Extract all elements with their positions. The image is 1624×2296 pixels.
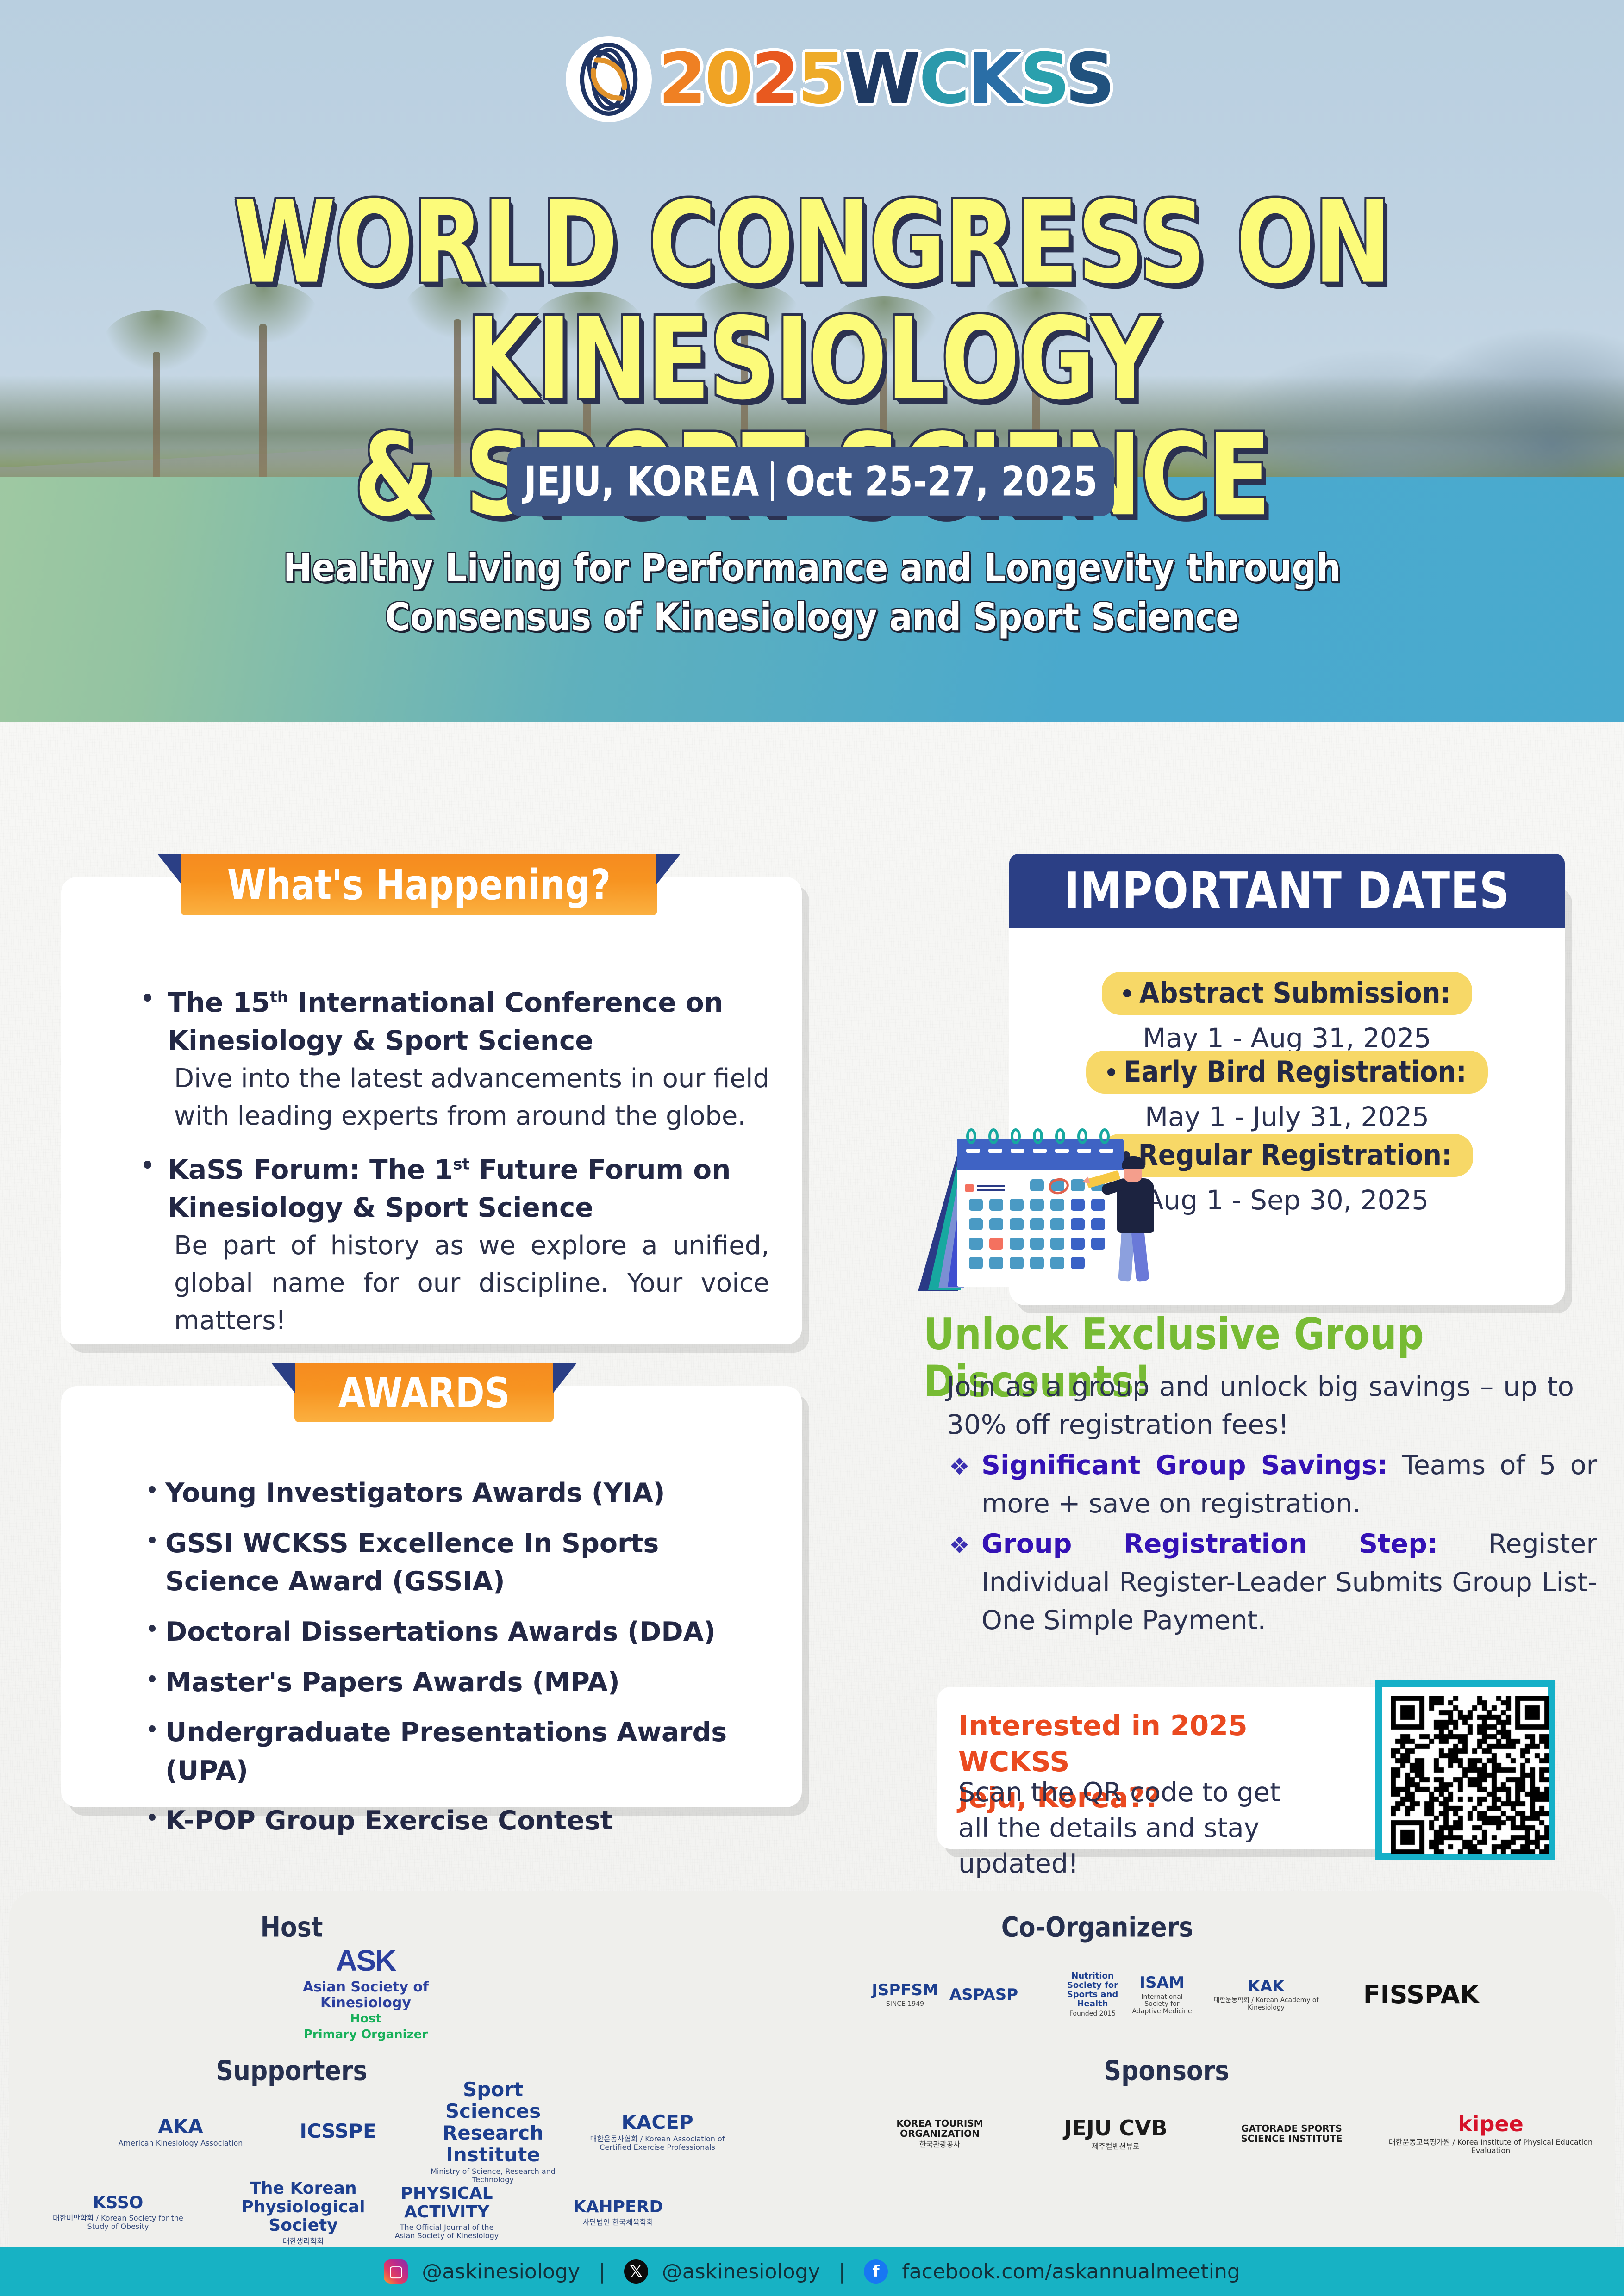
calendar-day-cell — [1091, 1199, 1105, 1211]
sponsor-logo-4: kipee대한운동교육평가원 / Korea Institute of Phys… — [1375, 2094, 1606, 2173]
group-discount-bullet: ❖Significant Group Savings: Teams of 5 o… — [981, 1446, 1597, 1523]
whats-happening-card: The 15th International Conference on Kin… — [61, 877, 802, 1344]
qr-subtext: Scan the QR code to get all the details … — [958, 1775, 1380, 1882]
host-heading: Host — [194, 1914, 389, 1941]
ask-logo-role-2: Primary Organizer — [304, 2028, 428, 2041]
diamond-bullet-icon: ❖ — [949, 1450, 970, 1484]
important-date-value: May 1 - Aug 31, 2025 — [1009, 1022, 1565, 1054]
calendar-header-dash — [966, 1149, 980, 1153]
award-item: Undergraduate Presentations Awards (UPA) — [165, 1713, 781, 1790]
awards-ribbon: AWARDS — [294, 1363, 554, 1422]
important-date-label: Regular Registration: — [1138, 1139, 1452, 1172]
facebook-icon[interactable]: f — [864, 2259, 888, 2284]
wckss-emblem-icon — [566, 36, 652, 122]
supporter-logo-name: ICSSPE — [300, 2120, 376, 2142]
bullet-icon — [149, 1625, 156, 1632]
supporter-logo-sub: 대한생리학회 — [283, 2237, 324, 2246]
calendar-day-cell — [1010, 1199, 1024, 1211]
important-date-label: Abstract Submission: — [1139, 977, 1451, 1010]
logo-char: K — [968, 39, 1020, 119]
calendar-ring — [1055, 1128, 1065, 1144]
bullet-icon — [149, 1725, 156, 1732]
bullet-icon — [144, 1161, 151, 1169]
calendar-day-cell — [1030, 1218, 1044, 1230]
calendar-day-cell — [969, 1257, 983, 1269]
tagline: Healthy Living for Performance and Longe… — [0, 544, 1624, 642]
title-line-1: WORLD CONGRESS ON KINESIOLOGY — [234, 177, 1391, 425]
whats-happening-item: KaSS Forum: The 1st Future Forum on Kine… — [168, 1151, 769, 1339]
qr-subtext-line-1: Scan the QR code to get — [958, 1775, 1380, 1811]
sponsor-logo-1: KOREA TOURISM ORGANIZATION한국관광공사 — [880, 2094, 1000, 2173]
co-organizer-logo-2: ASPASP — [931, 1960, 1037, 2029]
logo-char: S — [1020, 39, 1065, 119]
calendar-day-cell — [989, 1199, 1003, 1211]
calendar-day-cell — [969, 1199, 983, 1211]
calendar-day-cell — [1030, 1257, 1044, 1269]
ask-logo-mark: ASK — [336, 1943, 395, 1978]
calendar-ring — [988, 1128, 999, 1144]
calendar-day-cell — [1071, 1257, 1085, 1269]
supporter-logo-3: Sport Sciences Research InstituteMinistr… — [417, 2094, 569, 2168]
bullet-icon — [1107, 1068, 1115, 1076]
group-discounts-intro: Join as a group and unlock big savings –… — [947, 1368, 1574, 1444]
group-discount-bullet-title: Group Registration Step: — [981, 1529, 1438, 1559]
supporter-logo-2: ICSSPE — [269, 2094, 407, 2168]
whats-happening-body: Be part of history as we explore a unifi… — [168, 1227, 769, 1340]
ask-logo-role-1: Host — [350, 2012, 381, 2026]
co-organizer-logo-4: ISAMInternational Society for Adaptive M… — [1130, 1960, 1194, 2029]
calendar-day-cell — [1091, 1238, 1105, 1250]
calendar-header-dash — [988, 1149, 1002, 1153]
facebook-url[interactable]: facebook.com/askannualmeeting — [902, 2260, 1240, 2284]
supporter-logo-6: The Korean Physiological Society대한생리학회 — [227, 2178, 380, 2247]
sponsor-logo-2: JEJU CVB제주컬벤션뷰로 — [1018, 2094, 1213, 2173]
award-item: GSSI WCKSS Excellence In Sports Science … — [165, 1524, 781, 1601]
logo-char: 5 — [798, 39, 844, 119]
co-organizer-logo-sub: Founded 2015 — [1069, 2010, 1116, 2018]
important-date-label-chip: Abstract Submission: — [1102, 972, 1472, 1015]
supporter-logo-1: AKAAmerican Kinesiology Association — [111, 2094, 250, 2168]
sponsor-logo-name: KOREA TOURISM ORGANIZATION — [880, 2118, 1000, 2139]
calendar-illustration-icon — [914, 1125, 1174, 1300]
qr-subtext-line-2: all the details and stay updated! — [958, 1811, 1380, 1882]
bullet-icon — [149, 1814, 156, 1821]
qr-headline-line-1: Interested in 2025 WCKSS — [958, 1708, 1366, 1780]
sponsor-logo-name: kipee — [1458, 2112, 1524, 2136]
co-organizer-logo-5: KAK대한운동학회 / Korean Academy of Kinesiolog… — [1213, 1960, 1319, 2029]
logo-char: 2 — [751, 39, 798, 119]
x-handle[interactable]: @askinesiology — [662, 2260, 820, 2284]
supporters-heading: Supporters — [194, 2057, 389, 2085]
qr-code[interactable] — [1375, 1680, 1555, 1860]
bullet-icon — [149, 1537, 156, 1543]
calendar-day-cell — [1010, 1257, 1024, 1269]
calendar-day-cell — [1030, 1179, 1044, 1191]
logo-char: S — [1065, 39, 1113, 119]
location-date-badge: JEJU, KOREA Oct 25-27, 2025 — [507, 447, 1114, 516]
award-item: Master's Papers Awards (MPA) — [165, 1663, 781, 1702]
important-dates-label: IMPORTANT DATES — [1064, 862, 1510, 920]
calendar-ring — [1077, 1128, 1087, 1144]
sponsor-logo-sub: 한국관광공사 — [919, 2140, 960, 2149]
supporter-logo-name: KAHPERD — [573, 2198, 663, 2216]
supporter-logo-name: The Korean Physiological Society — [227, 2179, 380, 2235]
calendar-day-cell — [1030, 1199, 1044, 1211]
award-item: K-POP Group Exercise Contest — [165, 1802, 781, 1840]
pill-divider — [771, 461, 774, 501]
calendar-day-cell — [1030, 1238, 1044, 1250]
calendar-day-cell — [969, 1238, 983, 1250]
award-item: Young Investigators Awards (YIA) — [165, 1474, 781, 1512]
tagline-line-2: Consensus of Kinesiology and Sport Scien… — [0, 593, 1624, 642]
calendar-day-cell — [1091, 1218, 1105, 1230]
award-item: Doctoral Dissertations Awards (DDA) — [165, 1613, 781, 1651]
instagram-icon[interactable]: ▢ — [384, 2259, 408, 2284]
conference-poster: 2025WCKSS WORLD CONGRESS ON KINESIOLOGY … — [0, 0, 1624, 2296]
sponsor-logo-sub: 제주컬벤션뷰로 — [1092, 2142, 1139, 2151]
supporter-logo-name: Sport Sciences Research Institute — [417, 2078, 569, 2165]
co-organizer-logo-name: Nutrition Society for Sports and Health — [1065, 1972, 1120, 2009]
co-organizer-logo-name: JSPFSM — [872, 1981, 938, 1999]
calendar-day-cell — [1010, 1218, 1024, 1230]
social-bar: ▢ @askinesiology | 𝕏 @askinesiology | f … — [0, 2247, 1624, 2296]
supporter-logo-sub: American Kinesiology Association — [119, 2139, 243, 2147]
co-organizer-logo-name: KAK — [1248, 1978, 1284, 1995]
important-date-entry: Abstract Submission:May 1 - Aug 31, 2025 — [1009, 972, 1565, 1054]
supporter-logo-name: KACEP — [621, 2111, 693, 2133]
logo-wordmark: 2025WCKSS — [658, 44, 1113, 114]
sponsor-logo-3: GATORADE SPORTS SCIENCE INSTITUTE — [1231, 2094, 1352, 2173]
calendar-header-dash — [1011, 1149, 1024, 1153]
co-organizer-logo-3: Nutrition Society for Sports and HealthF… — [1065, 1960, 1120, 2029]
calendar-day-cell — [1010, 1238, 1024, 1250]
x-icon[interactable]: 𝕏 — [624, 2259, 648, 2284]
group-discount-bullet: ❖Group Registration Step: Register Indiv… — [981, 1525, 1597, 1640]
calendar-day-cell — [1050, 1238, 1064, 1250]
co-organizer-logo-sub: SINCE 1949 — [886, 2001, 924, 2008]
supporter-logo-sub: The Official Journal of the Asian Societ… — [394, 2223, 500, 2240]
logo-char: C — [919, 39, 968, 119]
calendar-day-cell — [989, 1238, 1003, 1250]
wckss-logo: 2025WCKSS — [566, 36, 1113, 122]
awards-card: Young Investigators Awards (YIA)GSSI WCK… — [61, 1386, 802, 1807]
group-discount-bullet-title: Significant Group Savings: — [981, 1450, 1388, 1481]
supporter-logo-name: KSSO — [93, 2194, 144, 2212]
awards-list: Young Investigators Awards (YIA)GSSI WCK… — [165, 1474, 781, 1852]
calendar-day-cell — [1050, 1257, 1064, 1269]
important-date-label-chip: Early Bird Registration: — [1086, 1051, 1488, 1094]
co-organizer-logo-1: JSPFSMSINCE 1949 — [880, 1960, 931, 2029]
bullet-icon — [144, 994, 151, 1002]
calendar-header-dash — [1055, 1149, 1069, 1153]
calendar-day-cell — [1071, 1218, 1085, 1230]
social-divider-1: | — [599, 2260, 606, 2284]
calendar-day-cell — [989, 1218, 1003, 1230]
calendar-header-dash — [1099, 1149, 1113, 1153]
tagline-line-1: Healthy Living for Performance and Longe… — [0, 544, 1624, 593]
whats-happening-item: The 15th International Conference on Kin… — [168, 983, 769, 1135]
important-date-label: Early Bird Registration: — [1124, 1055, 1467, 1089]
calendar-ring — [1099, 1128, 1110, 1144]
whats-happening-label: What's Happening? — [227, 860, 611, 908]
calendar-day-cell — [1050, 1199, 1064, 1211]
co-organizer-logo-6: FISSPAK — [1333, 1960, 1509, 2029]
date-text: Oct 25-27, 2025 — [786, 457, 1097, 505]
co-organizers-heading: Co-Organizers — [866, 1914, 1329, 1941]
supporter-logo-7: PHYSICAL ACTIVITYThe Official Journal of… — [394, 2178, 500, 2247]
important-date-entry: Early Bird Registration:May 1 - July 31,… — [1009, 1051, 1565, 1132]
calendar-header-dash — [1033, 1149, 1047, 1153]
supporter-logo-name: PHYSICAL ACTIVITY — [394, 2184, 500, 2222]
sponsor-logo-name: GATORADE SPORTS SCIENCE INSTITUTE — [1231, 2123, 1352, 2144]
whats-happening-heading: KaSS Forum: The 1st Future Forum on Kine… — [168, 1151, 769, 1227]
calendar-day-cell — [1071, 1179, 1085, 1191]
calendar-day-cell — [1071, 1199, 1085, 1211]
sponsor-logo-sub: 대한운동교육평가원 / Korea Institute of Physical … — [1375, 2138, 1606, 2155]
instagram-handle[interactable]: @askinesiology — [422, 2260, 580, 2284]
host-logo-ask: ASKAsian Society of KinesiologyHostPrima… — [269, 1951, 463, 2034]
supporter-logo-sub: 대한비만학회 / Korean Society for the Study of… — [42, 2214, 194, 2231]
important-dates-header: IMPORTANT DATES — [1009, 854, 1565, 928]
co-organizer-logo-name: FISSPAK — [1363, 1981, 1480, 2009]
whats-happening-heading: The 15th International Conference on Kin… — [168, 983, 769, 1060]
ask-logo-name: Asian Society of Kinesiology — [269, 1979, 463, 2010]
co-organizer-logo-sub: International Society for Adaptive Medic… — [1130, 1994, 1194, 2016]
supporter-logo-sub: 대한운동사협회 / Korean Association of Certifie… — [588, 2135, 727, 2152]
calendar-day-cell — [1071, 1238, 1085, 1250]
calendar-day-cell — [969, 1218, 983, 1230]
supporter-logo-name: AKA — [158, 2116, 203, 2137]
hero-banner: 2025WCKSS WORLD CONGRESS ON KINESIOLOGY … — [0, 0, 1624, 722]
supporter-logo-4: KACEP대한운동사협회 / Korean Association of Cer… — [588, 2094, 727, 2168]
sponsors-heading: Sponsors — [1028, 2057, 1305, 2085]
calendar-day-cell — [1050, 1218, 1064, 1230]
qr-code-canvas[interactable] — [1391, 1696, 1549, 1854]
calendar-day-cell — [989, 1257, 1003, 1269]
awards-label: AWARDS — [338, 1368, 510, 1417]
co-organizer-logo-sub: 대한운동학회 / Korean Academy of Kinesiology — [1213, 1997, 1319, 2011]
co-organizer-logo-name: ASPASP — [949, 1986, 1018, 2004]
supporter-logo-8: KAHPERD사단법인 한국체육학회 — [509, 2178, 727, 2247]
bullet-icon — [149, 1486, 156, 1493]
supporter-logo-5: KSSO대한비만학회 / Korean Society for the Stud… — [42, 2178, 194, 2247]
calendar-header-dash — [1077, 1149, 1091, 1153]
bullet-icon — [1123, 989, 1131, 997]
whats-happening-ribbon: What's Happening? — [181, 854, 657, 915]
diamond-bullet-icon: ❖ — [949, 1529, 970, 1562]
calendar-ring — [966, 1128, 976, 1144]
supporter-logo-sub: 사단법인 한국체육학회 — [583, 2218, 653, 2227]
calendar-ring — [1011, 1128, 1021, 1144]
whats-happening-list: The 15th International Conference on Kin… — [168, 983, 769, 1355]
whats-happening-body: Dive into the latest advancements in our… — [168, 1060, 769, 1135]
location-text: JEJU, KOREA — [524, 457, 759, 505]
sponsor-logo-name: JEJU CVB — [1064, 2116, 1167, 2140]
bullet-icon — [149, 1675, 156, 1682]
logo-char: W — [844, 39, 919, 119]
co-organizer-logo-name: ISAM — [1139, 1974, 1184, 1991]
footer-panel: Host Co-Organizers Supporters Sponsors A… — [9, 1891, 1615, 2247]
logo-char: 0 — [705, 39, 751, 119]
calendar-ring — [1033, 1128, 1043, 1144]
social-divider-2: | — [839, 2260, 846, 2284]
logo-char: 2 — [658, 39, 705, 119]
